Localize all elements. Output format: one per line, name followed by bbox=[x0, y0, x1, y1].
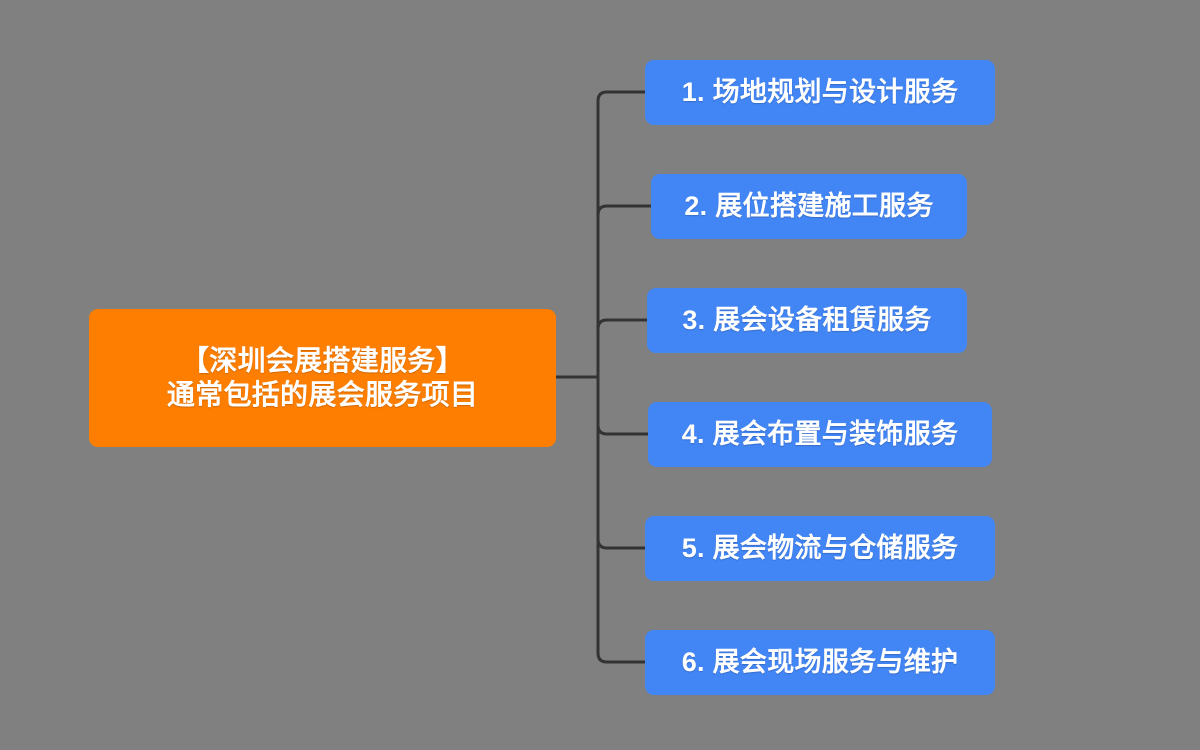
branch-node-2[interactable]: 2. 展位搭建施工服务 bbox=[651, 174, 967, 239]
connector-branch-6 bbox=[598, 377, 645, 662]
connector-branch-3 bbox=[598, 320, 647, 377]
branch-node-1[interactable]: 1. 场地规划与设计服务 bbox=[645, 60, 995, 125]
branch-node-3[interactable]: 3. 展会设备租赁服务 bbox=[647, 288, 967, 353]
connector-branch-1 bbox=[598, 92, 645, 377]
branch-node-5[interactable]: 5. 展会物流与仓储服务 bbox=[645, 516, 995, 581]
connector-branch-5 bbox=[598, 377, 645, 548]
branch-node-4[interactable]: 4. 展会布置与装饰服务 bbox=[648, 402, 992, 467]
branch-node-6[interactable]: 6. 展会现场服务与维护 bbox=[645, 630, 995, 695]
mindmap-canvas: 【深圳会展搭建服务】 通常包括的展会服务项目 1. 场地规划与设计服务 2. 展… bbox=[0, 0, 1200, 750]
root-node[interactable]: 【深圳会展搭建服务】 通常包括的展会服务项目 bbox=[89, 309, 556, 447]
connector-branch-4 bbox=[598, 377, 648, 434]
connector-branch-2 bbox=[598, 206, 651, 377]
